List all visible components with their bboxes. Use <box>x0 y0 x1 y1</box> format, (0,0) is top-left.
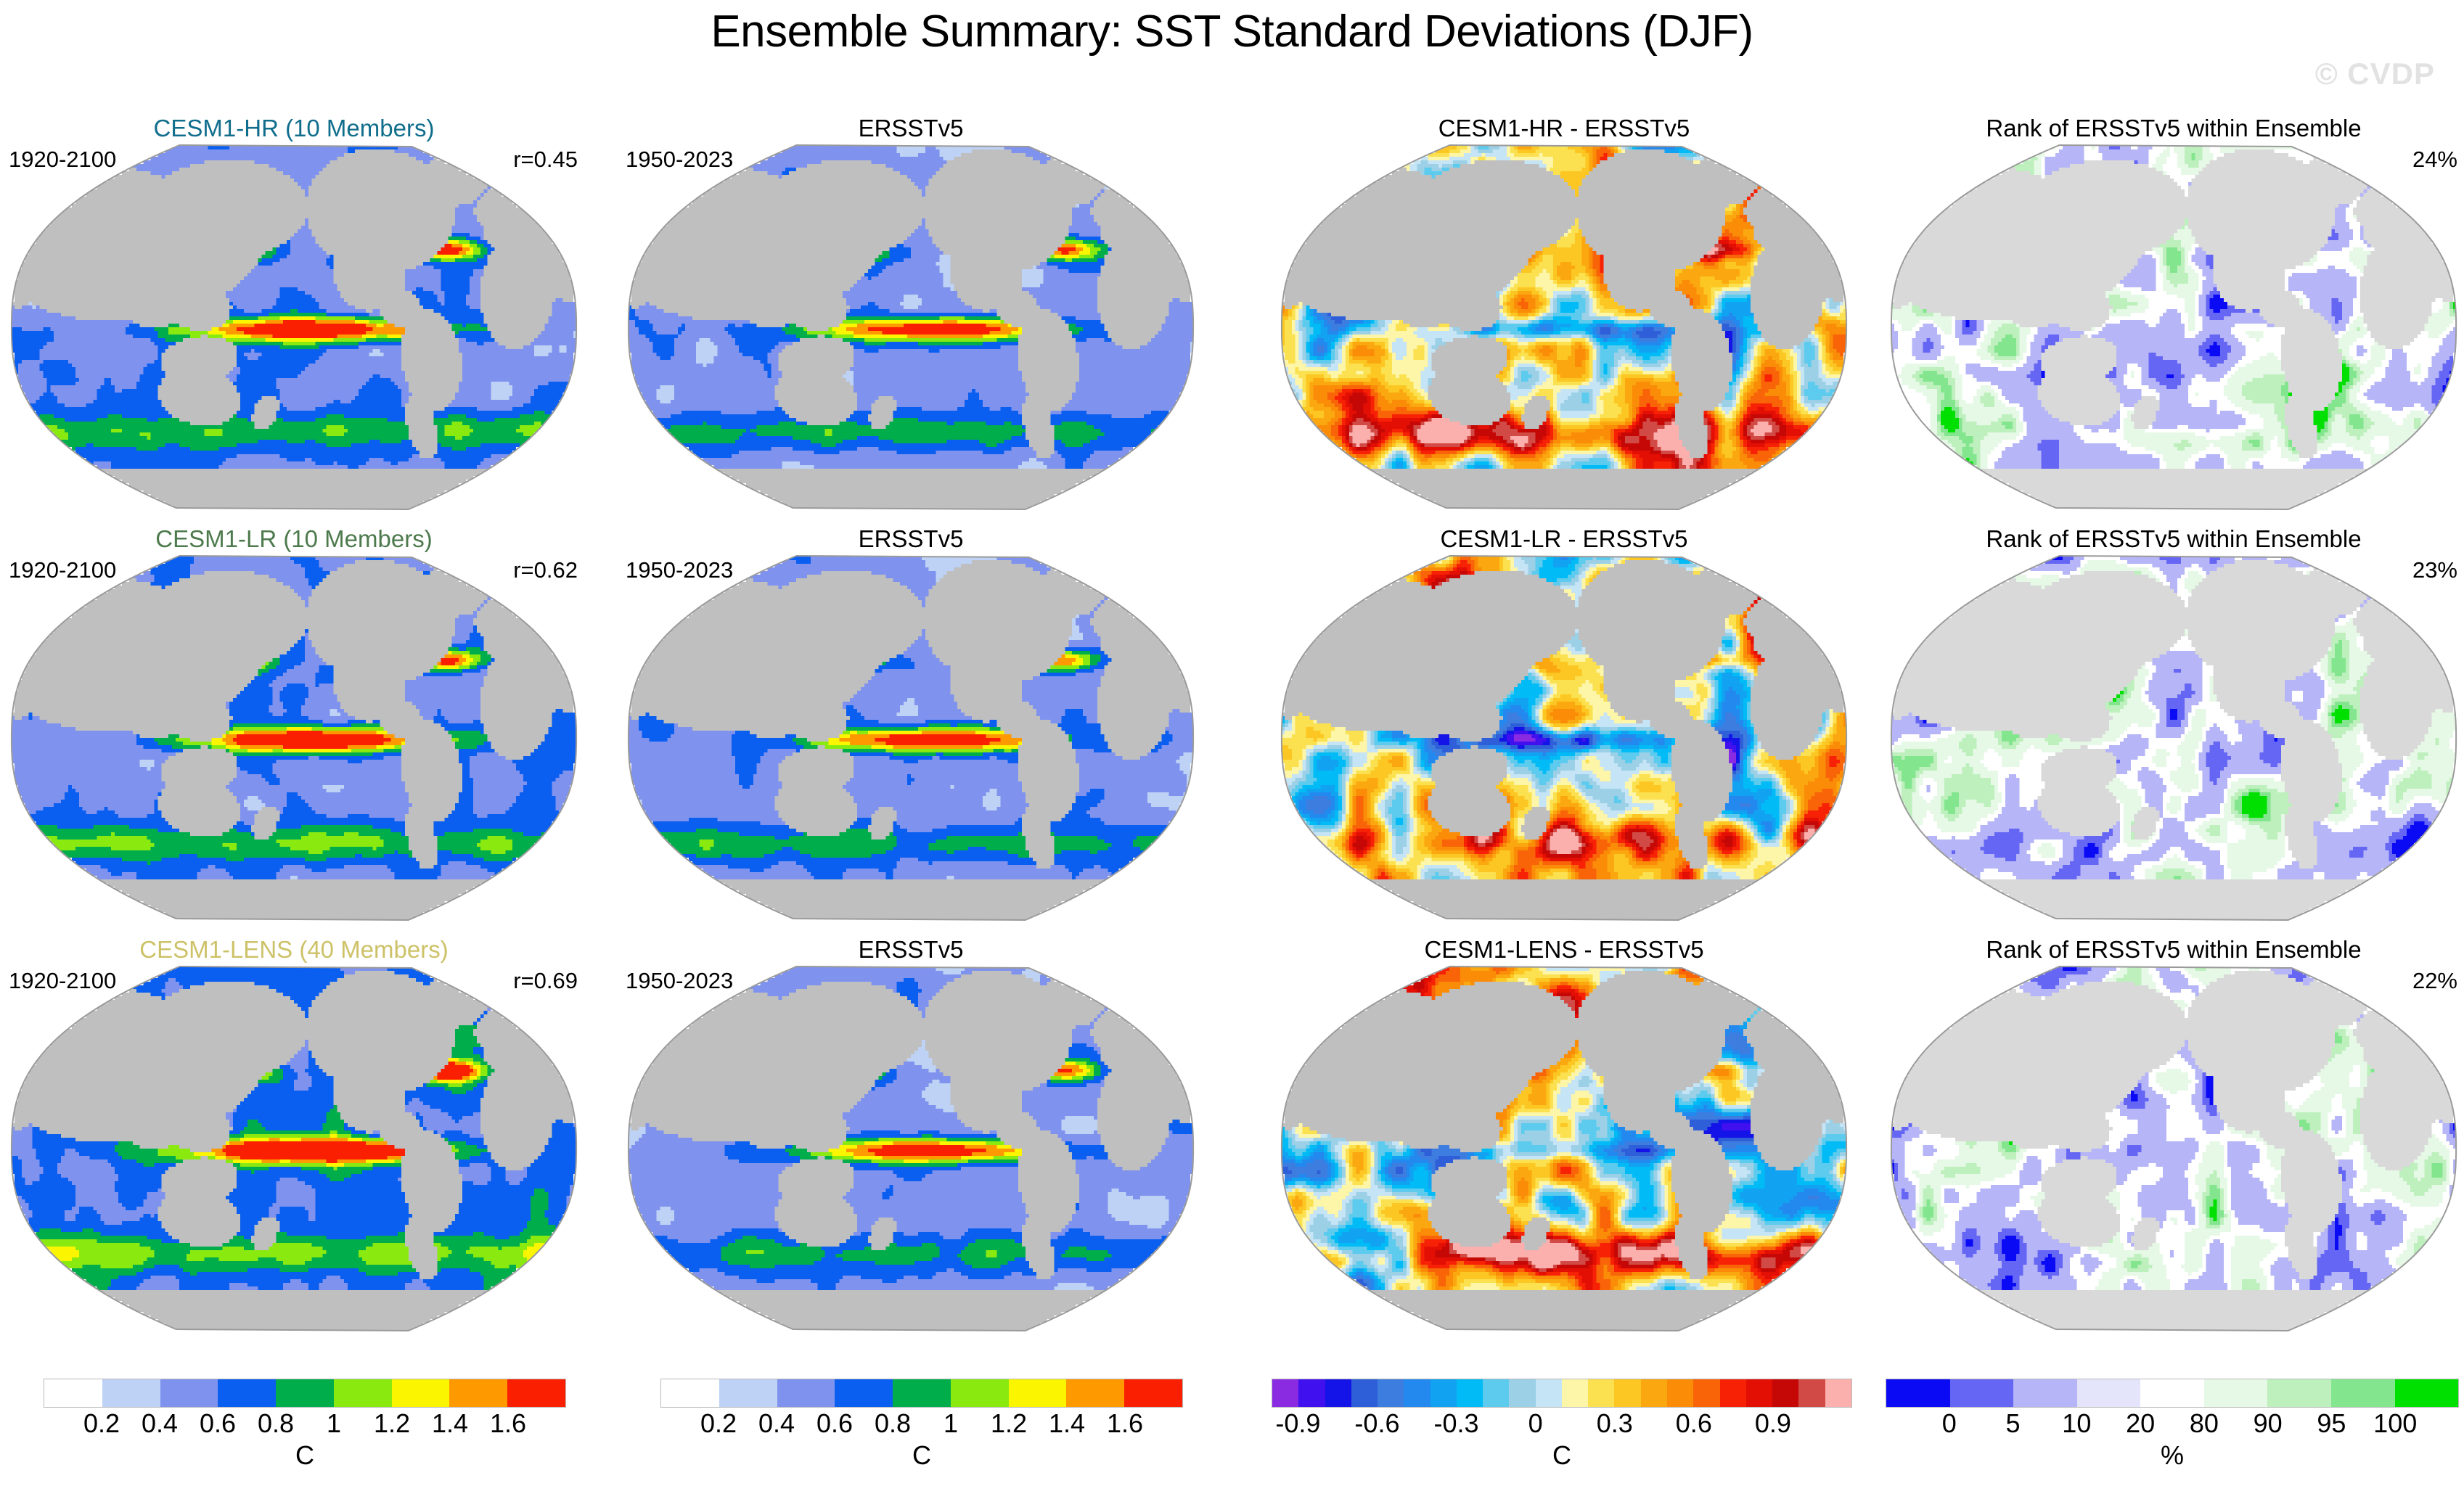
colorbar-tick-label: 1.6 <box>490 1411 526 1437</box>
colorbar-swatch <box>1667 1379 1693 1407</box>
colorbar-swatch <box>44 1379 102 1407</box>
colorbar-unit-stddev-obs: C <box>660 1442 1183 1469</box>
colorbar-tick-label: 0.6 <box>1676 1411 1712 1437</box>
colorbar-swatch <box>2331 1379 2395 1407</box>
colorbar-swatch <box>1950 1379 2014 1407</box>
colorbar-swatches-stddev-model <box>44 1379 566 1408</box>
colorbar-swatch <box>1430 1379 1457 1407</box>
colorbar-tick-label: 1.4 <box>1049 1411 1085 1437</box>
colorbar-tick-label: 0.2 <box>83 1411 120 1437</box>
colorbar-swatch <box>1641 1379 1667 1407</box>
colorbar-swatch <box>1562 1379 1588 1407</box>
colorbar-tick-label: 20 <box>2126 1411 2155 1437</box>
colorbar-swatch <box>392 1379 450 1407</box>
colorbar-swatch <box>1772 1379 1798 1407</box>
colorbar-swatch <box>1457 1379 1483 1407</box>
colorbar-tick-label: 0.9 <box>1755 1411 1791 1437</box>
colorbar-swatch <box>1124 1379 1182 1407</box>
panel-obs-stddev-row3: ERSSTv5 1950-2023 <box>624 937 1198 1344</box>
colorbar-unit-rank: % <box>1886 1442 2459 1469</box>
map-difference-row1 <box>1277 142 1851 512</box>
colorbar-swatch <box>218 1379 276 1407</box>
colorbar-swatches-stddev-obs <box>660 1379 1183 1408</box>
colorbar-swatch <box>1066 1379 1124 1407</box>
colorbar-tick-label: 0.4 <box>758 1411 795 1437</box>
colorbar-tick-label: 0.8 <box>258 1411 294 1437</box>
colorbar-tick-label: 10 <box>2062 1411 2091 1437</box>
cvdp-watermark: © CVDP <box>2315 57 2435 91</box>
colorbar-swatch <box>2140 1379 2204 1407</box>
colorbar-swatch <box>661 1379 719 1407</box>
colorbar-swatch <box>835 1379 893 1407</box>
panel-title-obs-row1: ERSSTv5 <box>624 116 1198 140</box>
panel-title-model-row1: CESM1-HR (10 Members) <box>7 116 581 140</box>
colorbar-tick-label: 1.6 <box>1107 1411 1143 1437</box>
panel-model-stddev-row1: CESM1-HR (10 Members) 1920-2100 r=0.45 <box>7 116 581 522</box>
colorbar-tick-label: 100 <box>2373 1411 2417 1437</box>
panel-model-stddev-row2: CESM1-LR (10 Members) 1920-2100 r=0.62 <box>7 527 581 933</box>
map-rank-row3 <box>1887 964 2460 1334</box>
panel-title-difference-row2: CESM1-LR - ERSSTv5 <box>1277 527 1851 551</box>
colorbar-tick-label: 1 <box>327 1411 341 1437</box>
colorbar-swatch <box>1325 1379 1351 1407</box>
panel-title-obs-row2: ERSSTv5 <box>624 527 1198 551</box>
colorbar-swatch <box>449 1379 507 1407</box>
colorbar-difference: -0.9-0.6-0.300.30.60.9 C <box>1272 1370 1852 1479</box>
colorbar-swatch <box>507 1379 565 1407</box>
colorbar-tick-label: 0.2 <box>700 1411 737 1437</box>
colorbar-swatch <box>1536 1379 1562 1407</box>
colorbar-swatch <box>1746 1379 1772 1407</box>
colorbar-swatch <box>777 1379 835 1407</box>
colorbar-stddev-obs: 0.20.40.60.811.21.41.6 C <box>660 1370 1183 1479</box>
colorbar-tick-label: -0.6 <box>1354 1411 1399 1437</box>
colorbar-swatch <box>1588 1379 1614 1407</box>
map-model-stddev-row2 <box>7 553 581 923</box>
colorbar-tick-label: 1.2 <box>991 1411 1027 1437</box>
colorbar-tick-label: 95 <box>2317 1411 2346 1437</box>
panel-model-stddev-row3: CESM1-LENS (40 Members) 1920-2100 r=0.69 <box>7 937 581 1344</box>
colorbar-ticks-stddev-model: 0.20.40.60.811.21.41.6 <box>44 1411 566 1444</box>
colorbar-unit-difference: C <box>1272 1442 1852 1469</box>
panel-title-model-row2: CESM1-LR (10 Members) <box>7 527 581 551</box>
colorbar-swatch <box>951 1379 1009 1407</box>
colorbar-swatch <box>1614 1379 1640 1407</box>
colorbar-swatch <box>334 1379 392 1407</box>
panel-title-rank-row3: Rank of ERSSTv5 within Ensemble <box>1887 937 2460 961</box>
panel-rank-row2: Rank of ERSSTv5 within Ensemble 23% <box>1887 527 2460 933</box>
map-model-stddev-row1 <box>7 142 581 512</box>
colorbar-tick-label: 90 <box>2254 1411 2283 1437</box>
colorbar-tick-label: 1.4 <box>432 1411 468 1437</box>
map-obs-stddev-row1 <box>624 142 1198 512</box>
colorbar-tick-label: 0.6 <box>200 1411 236 1437</box>
colorbar-swatch <box>2204 1379 2268 1407</box>
colorbar-tick-label: -0.3 <box>1434 1411 1479 1437</box>
colorbar-tick-label: 80 <box>2190 1411 2219 1437</box>
colorbar-swatches-difference <box>1272 1379 1852 1408</box>
colorbar-swatch <box>102 1379 160 1407</box>
colorbar-swatch <box>1378 1379 1404 1407</box>
colorbar-tick-label: 5 <box>2006 1411 2021 1437</box>
map-obs-stddev-row2 <box>624 553 1198 923</box>
colorbar-tick-label: 0.6 <box>816 1411 853 1437</box>
colorbar-tick-label: 0 <box>1942 1411 1957 1437</box>
panel-difference-row2: CESM1-LR - ERSSTv5 <box>1277 527 1851 933</box>
colorbar-swatch <box>160 1379 218 1407</box>
colorbar-swatch <box>1509 1379 1535 1407</box>
colorbar-swatch <box>1351 1379 1378 1407</box>
map-obs-stddev-row3 <box>624 964 1198 1334</box>
colorbar-tick-label: 0.4 <box>142 1411 178 1437</box>
panel-title-rank-row1: Rank of ERSSTv5 within Ensemble <box>1887 116 2460 140</box>
figure-root: Ensemble Summary: SST Standard Deviation… <box>0 0 2464 1486</box>
colorbar-swatch <box>2267 1379 2331 1407</box>
colorbar-unit-stddev-model: C <box>44 1442 566 1469</box>
map-difference-row2 <box>1277 553 1851 923</box>
panel-obs-stddev-row1: ERSSTv5 1950-2023 <box>624 116 1198 522</box>
map-rank-row1 <box>1887 142 2460 512</box>
colorbar-swatch <box>719 1379 777 1407</box>
colorbar-swatch <box>1825 1379 1851 1407</box>
colorbar-ticks-stddev-obs: 0.20.40.60.811.21.41.6 <box>660 1411 1183 1444</box>
panel-title-model-row3: CESM1-LENS (40 Members) <box>7 937 581 961</box>
panel-title-obs-row3: ERSSTv5 <box>624 937 1198 961</box>
colorbar-swatch <box>2077 1379 2141 1407</box>
colorbar-swatch <box>1009 1379 1067 1407</box>
colorbar-ticks-rank: 051020809095100 <box>1886 1411 2459 1444</box>
colorbar-tick-label: 0 <box>1528 1411 1543 1437</box>
colorbar-swatch <box>1798 1379 1825 1407</box>
colorbar-tick-label: 0.3 <box>1597 1411 1633 1437</box>
colorbar-stddev-model: 0.20.40.60.811.21.41.6 C <box>44 1370 566 1479</box>
panel-rank-row1: Rank of ERSSTv5 within Ensemble 24% <box>1887 116 2460 522</box>
map-difference-row3 <box>1277 964 1851 1334</box>
colorbar-tick-label: -0.9 <box>1275 1411 1320 1437</box>
panel-difference-row3: CESM1-LENS - ERSSTv5 <box>1277 937 1851 1344</box>
colorbar-swatch <box>1720 1379 1746 1407</box>
panel-difference-row1: CESM1-HR - ERSSTv5 <box>1277 116 1851 522</box>
colorbar-swatch <box>276 1379 334 1407</box>
map-model-stddev-row3 <box>7 964 581 1334</box>
panel-obs-stddev-row2: ERSSTv5 1950-2023 <box>624 527 1198 933</box>
colorbar-ticks-difference: -0.9-0.6-0.300.30.60.9 <box>1272 1411 1852 1444</box>
panel-title-difference-row3: CESM1-LENS - ERSSTv5 <box>1277 937 1851 961</box>
colorbar-swatch <box>1298 1379 1325 1407</box>
panel-rank-row3: Rank of ERSSTv5 within Ensemble 22% <box>1887 937 2460 1344</box>
colorbar-swatch <box>1272 1379 1298 1407</box>
panel-title-difference-row1: CESM1-HR - ERSSTv5 <box>1277 116 1851 140</box>
colorbar-swatch <box>1886 1379 1950 1407</box>
colorbar-swatch <box>1693 1379 1719 1407</box>
colorbar-swatch <box>1404 1379 1430 1407</box>
colorbar-tick-label: 1 <box>944 1411 958 1437</box>
colorbar-swatch <box>2013 1379 2077 1407</box>
colorbar-swatches-rank <box>1886 1379 2459 1408</box>
colorbar-swatch <box>2395 1379 2459 1407</box>
map-rank-row2 <box>1887 553 2460 923</box>
colorbar-tick-label: 1.2 <box>374 1411 410 1437</box>
panel-title-rank-row2: Rank of ERSSTv5 within Ensemble <box>1887 527 2460 551</box>
colorbar-tick-label: 0.8 <box>875 1411 911 1437</box>
colorbar-rank: 051020809095100 % <box>1886 1370 2459 1479</box>
colorbar-swatch <box>893 1379 951 1407</box>
page-title: Ensemble Summary: SST Standard Deviation… <box>0 6 2464 57</box>
colorbar-swatch <box>1483 1379 1509 1407</box>
